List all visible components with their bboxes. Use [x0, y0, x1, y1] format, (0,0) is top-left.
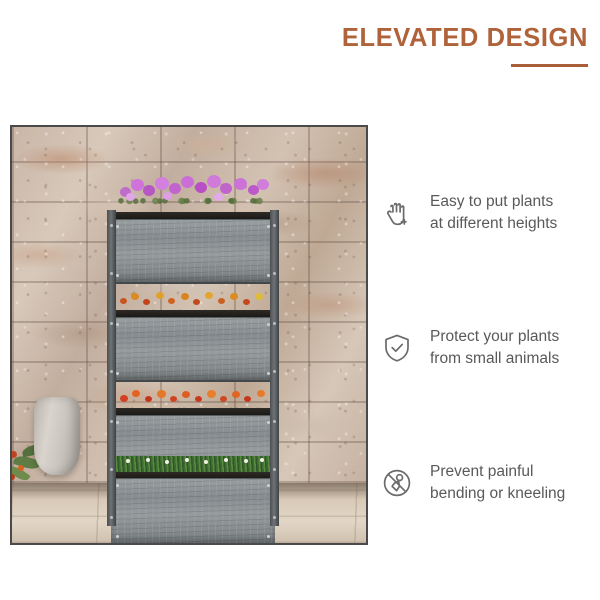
feature-text: Easy to put plants at different heights — [430, 191, 557, 235]
feature-item-prevent-painful-bending: Prevent painful bending or kneeling — [380, 448, 592, 518]
feature-item-easy-to-put-plants: Easy to put plants at different heights — [380, 178, 592, 248]
tier-4-panel — [111, 478, 275, 542]
ceramic-vase — [34, 397, 80, 475]
feature-line-2: bending or kneeling — [430, 483, 565, 505]
product-photo — [10, 125, 368, 545]
tier-1-panel — [111, 219, 275, 281]
feature-text: Prevent painful bending or kneeling — [430, 461, 565, 505]
planter-post-right — [270, 210, 279, 526]
tier-1-soil — [113, 212, 273, 219]
tier-3-soil — [113, 408, 273, 415]
feature-line-1: Prevent painful — [430, 461, 565, 483]
page-title: ELEVATED DESIGN — [330, 24, 588, 52]
gardening-glove-icon — [380, 196, 414, 230]
feature-item-protect-your-plants: Protect your plants from small animals — [380, 313, 592, 383]
feature-text: Protect your plants from small animals — [430, 326, 559, 370]
feature-list: Easy to put plants at different heights … — [380, 178, 592, 518]
no-bending-icon — [380, 466, 414, 500]
tier-2-soil — [113, 310, 273, 317]
planter-post-left — [107, 210, 116, 526]
feature-line-1: Easy to put plants — [430, 191, 557, 213]
title-underline-rule — [511, 64, 588, 67]
feature-line-1: Protect your plants — [430, 326, 559, 348]
vertical-planter — [107, 210, 279, 520]
header: ELEVATED DESIGN — [330, 24, 588, 67]
tier-2-panel — [111, 317, 275, 379]
product-photo-scene — [12, 127, 366, 543]
feature-line-2: from small animals — [430, 348, 559, 370]
feature-line-2: at different heights — [430, 213, 557, 235]
shield-check-icon — [380, 331, 414, 365]
